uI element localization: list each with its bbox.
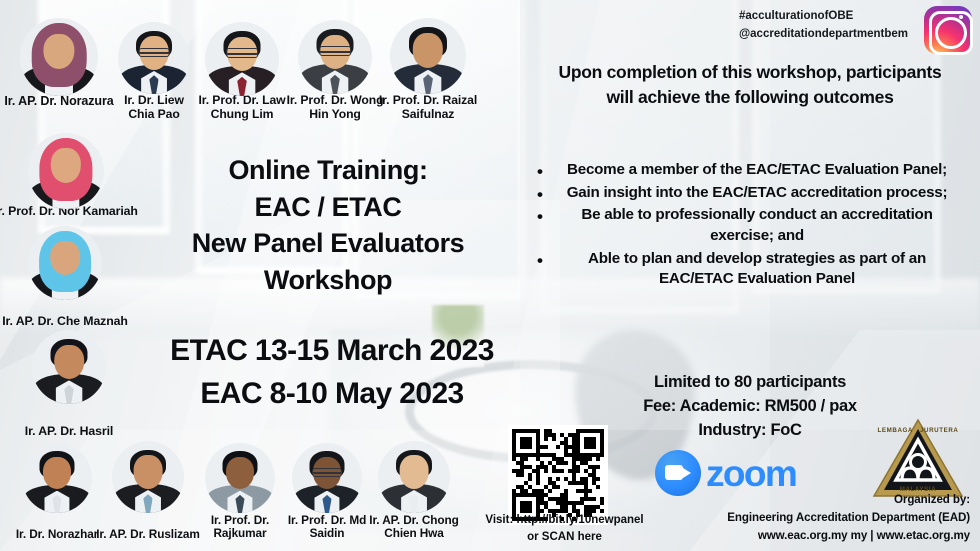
bullet-icon: •: [537, 249, 543, 272]
qr-url-text[interactable]: Visit: http://bit.ly/10newpanel: [452, 512, 677, 529]
speaker-photo: [292, 443, 362, 513]
bullet-icon: •: [537, 205, 543, 228]
outcome-text: Become a member of the EAC/ETAC Evaluati…: [567, 161, 947, 178]
instagram-lens: [935, 17, 967, 49]
social-handles: #acculturationofOBE @accreditationdepart…: [739, 8, 908, 44]
outcomes-heading: Upon completion of this workshop, partic…: [545, 60, 955, 111]
outcomes-list: •Become a member of the EAC/ETAC Evaluat…: [545, 160, 965, 292]
speaker-card: Ir. Prof. Dr. Nor Kamariah: [0, 133, 140, 218]
outcome-text: Be able to professionally conduct an acc…: [581, 206, 932, 244]
date-line-etac: ETAC 13-15 March 2023: [148, 330, 516, 373]
organized-by-label: Organized by:: [670, 491, 970, 509]
speaker-face: [54, 345, 84, 379]
speaker-face: [43, 457, 71, 489]
qr-code[interactable]: [508, 425, 608, 525]
speaker-photo: [390, 18, 466, 94]
speaker-photo: [118, 22, 190, 94]
qr-caption: Visit: http://bit.ly/10newpanel or SCAN …: [452, 512, 677, 545]
speaker-name: Ir. AP. Dr. Ruslizam: [90, 528, 206, 541]
instagram-icon[interactable]: [924, 6, 972, 54]
organizer-info: Organized by: Engineering Accreditation …: [670, 491, 970, 545]
outcome-item: •Gain insight into the EAC/ETAC accredit…: [545, 183, 965, 204]
speaker-face: [413, 33, 443, 68]
outcome-item: •Become a member of the EAC/ETAC Evaluat…: [545, 160, 965, 181]
bullet-icon: •: [537, 183, 543, 206]
qr-code-image[interactable]: [508, 425, 608, 525]
instagram-handle-text: @accreditationdepartmentbem: [739, 26, 908, 44]
speaker-face: [226, 457, 254, 489]
speaker-name: Ir. Prof. Dr. Raizal Saifulnaz: [368, 94, 488, 122]
speaker-photo: [28, 133, 104, 209]
speaker-photo: [28, 226, 102, 300]
title-line: Online Training:: [148, 152, 508, 189]
zoom-camera-glyph: [665, 465, 683, 480]
bem-logo: LEMBAGA JURUTERA MALAYSIA: [872, 418, 964, 500]
speaker-name: Ir. AP. Dr. Hasril: [1, 424, 137, 438]
fee-industry: Industry: FoC: [585, 418, 915, 442]
speaker-glasses: [226, 48, 258, 57]
speaker-name: Ir. AP. Dr. Che Maznah: [0, 314, 138, 328]
speaker-face: [134, 455, 163, 488]
speaker-photo: [112, 441, 184, 513]
speaker-glasses: [139, 48, 170, 57]
speaker-card: Ir. AP. Dr. Hasril: [1, 330, 137, 438]
speaker-glasses: [312, 468, 342, 477]
title-line: New Panel Evaluators: [148, 225, 508, 262]
outcome-text: Able to plan and develop strategies as p…: [588, 250, 926, 288]
outcomes-ul: •Become a member of the EAC/ETAC Evaluat…: [545, 160, 965, 290]
speaker-photo: [205, 22, 279, 96]
speaker-photo: [378, 441, 450, 513]
title-line: EAC / ETAC: [148, 189, 508, 226]
zoom-wordmark: zoom: [706, 455, 796, 492]
outcome-item: •Able to plan and develop strategies as …: [545, 249, 965, 290]
speaker-face: [50, 241, 80, 275]
organizer-websites[interactable]: www.eac.org.my my | www.etac.org.my: [670, 527, 970, 545]
title-line: Workshop: [148, 262, 508, 299]
speaker-photo: [20, 18, 98, 96]
event-dates: ETAC 13-15 March 2023 EAC 8-10 May 2023: [148, 330, 516, 415]
speaker-photo: [32, 330, 106, 404]
fee-academic: Fee: Academic: RM500 / pax: [585, 394, 915, 418]
speaker-glasses: [319, 46, 351, 55]
organizer-name: Engineering Accreditation Department (EA…: [670, 509, 970, 527]
outcome-item: •Be able to professionally conduct an ac…: [545, 205, 965, 246]
speaker-card: Ir. AP. Dr. Ruslizam: [90, 441, 206, 541]
hashtag-text: #acculturationofOBE: [739, 8, 908, 26]
speaker-card: Ir. Prof. Dr. Raizal Saifulnaz: [368, 18, 488, 122]
fee-info: Limited to 80 participants Fee: Academic…: [585, 370, 915, 442]
speaker-face: [51, 148, 81, 183]
zoom-camera-icon: [655, 450, 701, 496]
speaker-face: [400, 455, 429, 488]
participant-limit: Limited to 80 participants: [585, 370, 915, 394]
speaker-card: Ir. AP. Dr. Che Maznah: [0, 226, 138, 328]
zoom-logo: zoom: [655, 450, 796, 496]
bullet-icon: •: [537, 160, 543, 183]
qr-scan-text: or SCAN here: [452, 529, 677, 546]
outcome-text: Gain insight into the EAC/ETAC accredita…: [567, 184, 948, 201]
speaker-face: [43, 34, 74, 70]
qr-canvas: [512, 429, 604, 521]
poster-canvas: Ir. AP. Dr. NorazuraIr. Dr. Liew Chia Pa…: [0, 0, 980, 551]
speaker-photo: [298, 20, 372, 94]
date-line-eac: EAC 8-10 May 2023: [148, 373, 516, 416]
speaker-photo: [205, 443, 275, 513]
speaker-photo: [22, 443, 92, 513]
bem-logo-top-text: LEMBAGA JURUTERA: [872, 427, 964, 434]
poster-title: Online Training: EAC / ETAC New Panel Ev…: [148, 152, 508, 299]
